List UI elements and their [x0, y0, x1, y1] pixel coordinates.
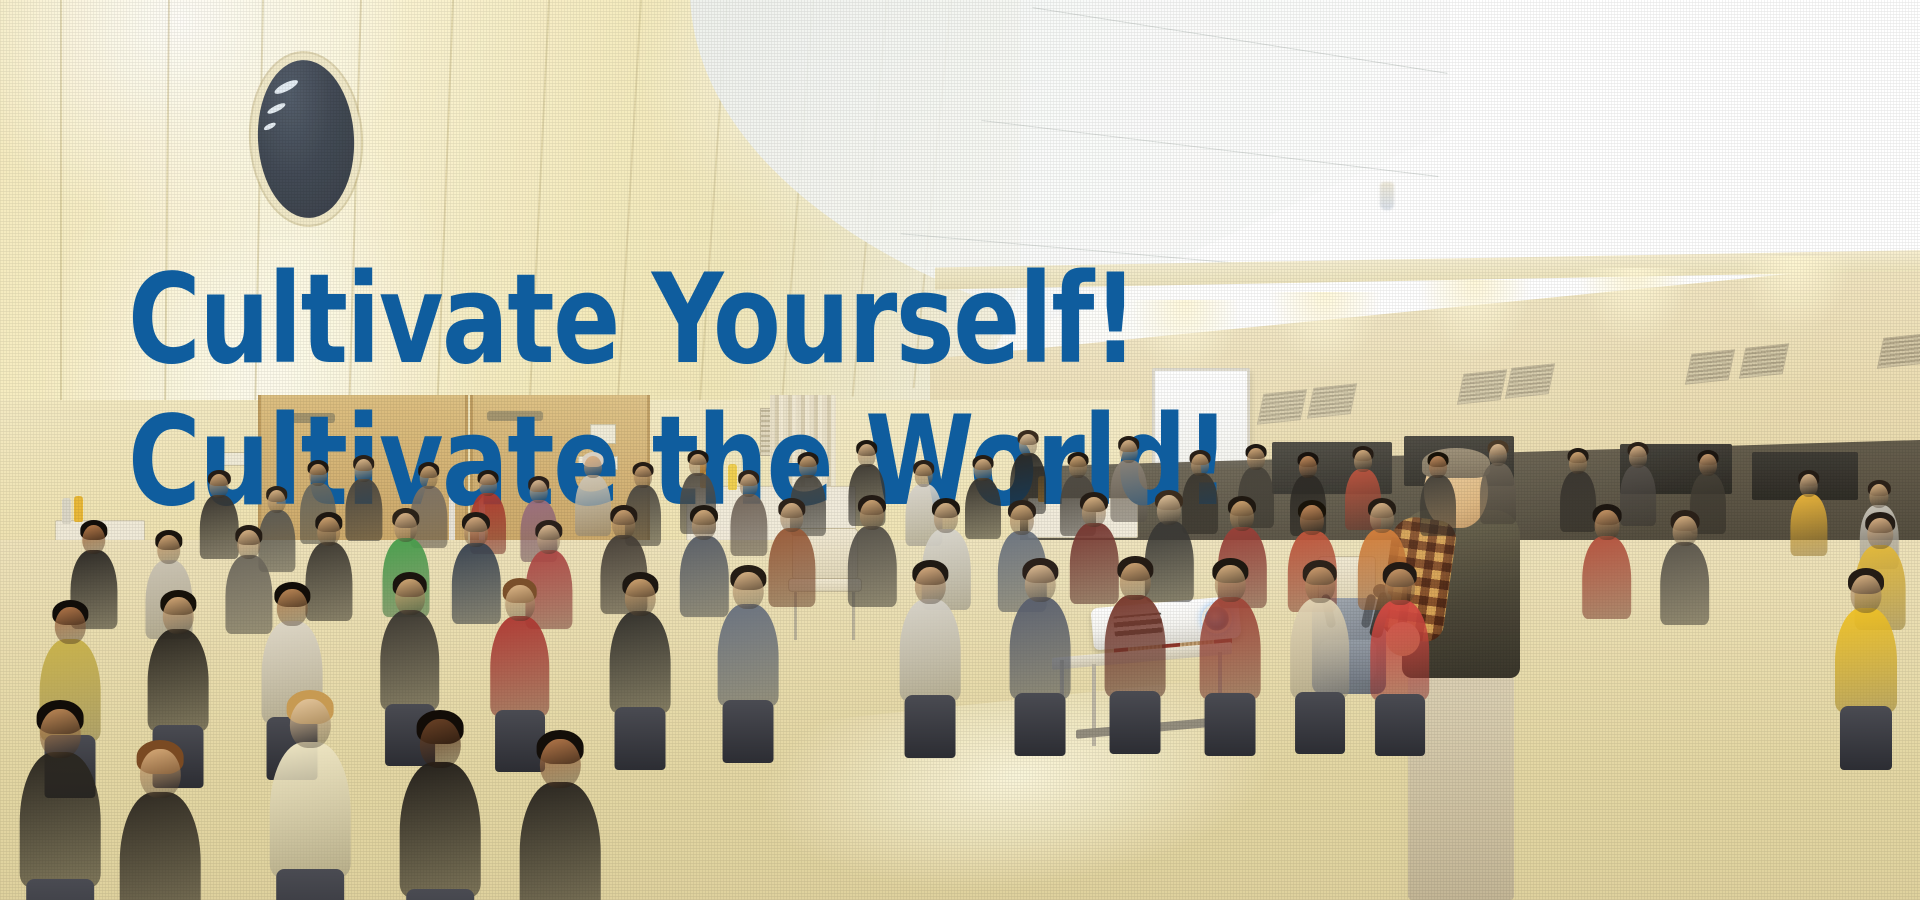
- audience-member-body: [1790, 494, 1827, 556]
- audience-member-body: [1660, 542, 1710, 625]
- audience-member-head: [529, 480, 548, 503]
- audience-member-head: [915, 567, 945, 604]
- audience-member-head: [1699, 454, 1717, 476]
- audience-member-body: [1480, 463, 1516, 523]
- audience-member-head: [277, 589, 307, 626]
- audience-member: [1660, 510, 1710, 662]
- audience-member-head: [1305, 567, 1335, 603]
- audience-member-head: [1851, 575, 1882, 613]
- audience-member-head: [914, 464, 933, 487]
- audience-member-head: [82, 525, 106, 554]
- audience-member: [1105, 556, 1166, 742]
- audience-member-body: [1200, 597, 1261, 699]
- audience-member-head: [1629, 446, 1647, 468]
- audience-member: [1290, 560, 1350, 742]
- audience-member-legs: [723, 700, 774, 763]
- audience-member-body: [1582, 536, 1632, 619]
- audience-member-legs: [1110, 691, 1161, 754]
- audience-member: [610, 572, 671, 758]
- audience-member: [1010, 558, 1071, 744]
- audience-member-head: [140, 749, 180, 798]
- audience-member-body: [1290, 598, 1350, 698]
- audience-member-body: [718, 604, 779, 706]
- audience-member-head: [733, 572, 763, 609]
- audience-member-head: [1300, 505, 1324, 535]
- audience-member: [965, 455, 1001, 565]
- audience-member-legs: [615, 707, 666, 770]
- audience-member: [1420, 452, 1456, 562]
- audience-member-head: [267, 490, 286, 513]
- audience-member-head: [634, 466, 652, 488]
- audience-member-head: [1119, 440, 1138, 463]
- audience-member-legs: [1375, 694, 1425, 755]
- audience-member-head: [857, 444, 876, 467]
- audience-member-legs: [27, 879, 95, 900]
- audience-member-head: [1120, 563, 1150, 600]
- audience-member-head: [420, 719, 460, 768]
- audience-member-body: [490, 616, 550, 716]
- audience-member: [1582, 504, 1632, 656]
- audience-member-head: [354, 459, 373, 482]
- audience-member-head: [505, 585, 535, 621]
- audience-member-head: [974, 459, 992, 481]
- audience-member-head: [1870, 484, 1889, 508]
- audience-member-head: [1354, 450, 1372, 472]
- audience-member: [900, 560, 961, 746]
- audience-member-head: [1230, 501, 1254, 531]
- audience-member-head: [689, 454, 707, 476]
- audience-member-head: [55, 607, 85, 644]
- audience-member-head: [1672, 516, 1697, 546]
- audience-member: [1480, 440, 1516, 550]
- audience-member-body: [400, 762, 481, 897]
- audience-member-head: [1370, 503, 1394, 533]
- audience-member-head: [1069, 456, 1087, 478]
- audience-member-legs: [1295, 692, 1345, 753]
- audience-member: [1790, 470, 1827, 584]
- audience-member-head: [1868, 518, 1893, 549]
- audience-member-head: [1247, 448, 1265, 470]
- audience-member-body: [520, 782, 601, 900]
- audience-member-legs: [277, 869, 345, 900]
- audience-member-head: [1010, 505, 1034, 535]
- audience-member-head: [1215, 565, 1245, 602]
- audience-member-head: [537, 525, 561, 554]
- audience-member-body: [848, 526, 896, 607]
- audience-member-head: [1157, 495, 1181, 525]
- audience-member-body: [730, 494, 767, 556]
- audience-member-body: [1370, 600, 1430, 700]
- audience-member: [718, 565, 779, 751]
- audience-member-head: [1799, 474, 1818, 497]
- audience: [0, 0, 1920, 900]
- audience-member-head: [799, 456, 817, 478]
- audience-member-head: [739, 474, 758, 497]
- audience-member-body: [1010, 597, 1071, 699]
- audience-member-legs: [407, 889, 475, 900]
- audience-member-head: [394, 513, 418, 542]
- audience-member-head: [584, 456, 602, 478]
- audience-member-body: [965, 478, 1001, 538]
- audience-member-head: [479, 474, 497, 496]
- audience-member: [120, 740, 201, 900]
- audience-member-head: [934, 503, 958, 533]
- audience-member-head: [237, 530, 261, 559]
- audience-member-head: [692, 510, 716, 540]
- audience-member: [1370, 562, 1430, 744]
- audience-member-head: [1019, 434, 1037, 456]
- audience-member-body: [610, 611, 671, 713]
- audience-member-head: [1082, 497, 1106, 527]
- audience-member-head: [1489, 444, 1507, 466]
- audience-member: [520, 730, 601, 900]
- audience-member-head: [464, 517, 488, 547]
- audience-member: [270, 690, 351, 900]
- audience-member-head: [163, 597, 193, 634]
- audience-member-head: [1025, 565, 1055, 602]
- audience-member-head: [1299, 456, 1317, 478]
- audience-member-head: [860, 500, 884, 530]
- audience-member-legs: [1205, 693, 1256, 756]
- audience-member-head: [40, 709, 80, 758]
- audience-member-body: [1420, 475, 1456, 535]
- audience-member-head: [317, 517, 341, 546]
- audience-member: [1200, 558, 1261, 744]
- audience-member-head: [1191, 454, 1209, 476]
- audience-member-head: [1385, 569, 1415, 605]
- photo-scene: [0, 0, 1920, 900]
- audience-member-body: [120, 792, 201, 900]
- audience-member-head: [625, 579, 655, 616]
- audience-member: [848, 495, 896, 643]
- audience-member-body: [380, 610, 440, 710]
- audience-member-body: [270, 742, 351, 877]
- audience-member-legs: [1840, 706, 1892, 770]
- audience-member-head: [612, 510, 636, 539]
- audience-member-head: [1569, 452, 1587, 474]
- audience-member-body: [20, 752, 101, 887]
- audience-member: [1835, 568, 1897, 758]
- audience-member-head: [210, 474, 229, 498]
- hero-banner: Cultivate Yourself! Cultivate the World!: [0, 0, 1920, 900]
- audience-member: [400, 710, 481, 900]
- audience-member-head: [309, 464, 327, 486]
- audience-member-head: [290, 699, 330, 748]
- audience-member-legs: [1015, 693, 1066, 756]
- audience-member-head: [419, 466, 438, 489]
- audience-member: [20, 700, 101, 900]
- audience-member-head: [540, 739, 580, 788]
- audience-member-body: [148, 629, 209, 731]
- audience-member-head: [157, 535, 181, 564]
- audience-member-legs: [905, 695, 956, 758]
- audience-member-head: [395, 579, 425, 615]
- audience-member-head: [1594, 510, 1619, 540]
- audience-member-body: [900, 599, 961, 701]
- audience-member-body: [1835, 608, 1897, 712]
- audience-member-body: [1105, 595, 1166, 697]
- audience-member-head: [1429, 456, 1447, 478]
- audience-member-head: [780, 503, 804, 532]
